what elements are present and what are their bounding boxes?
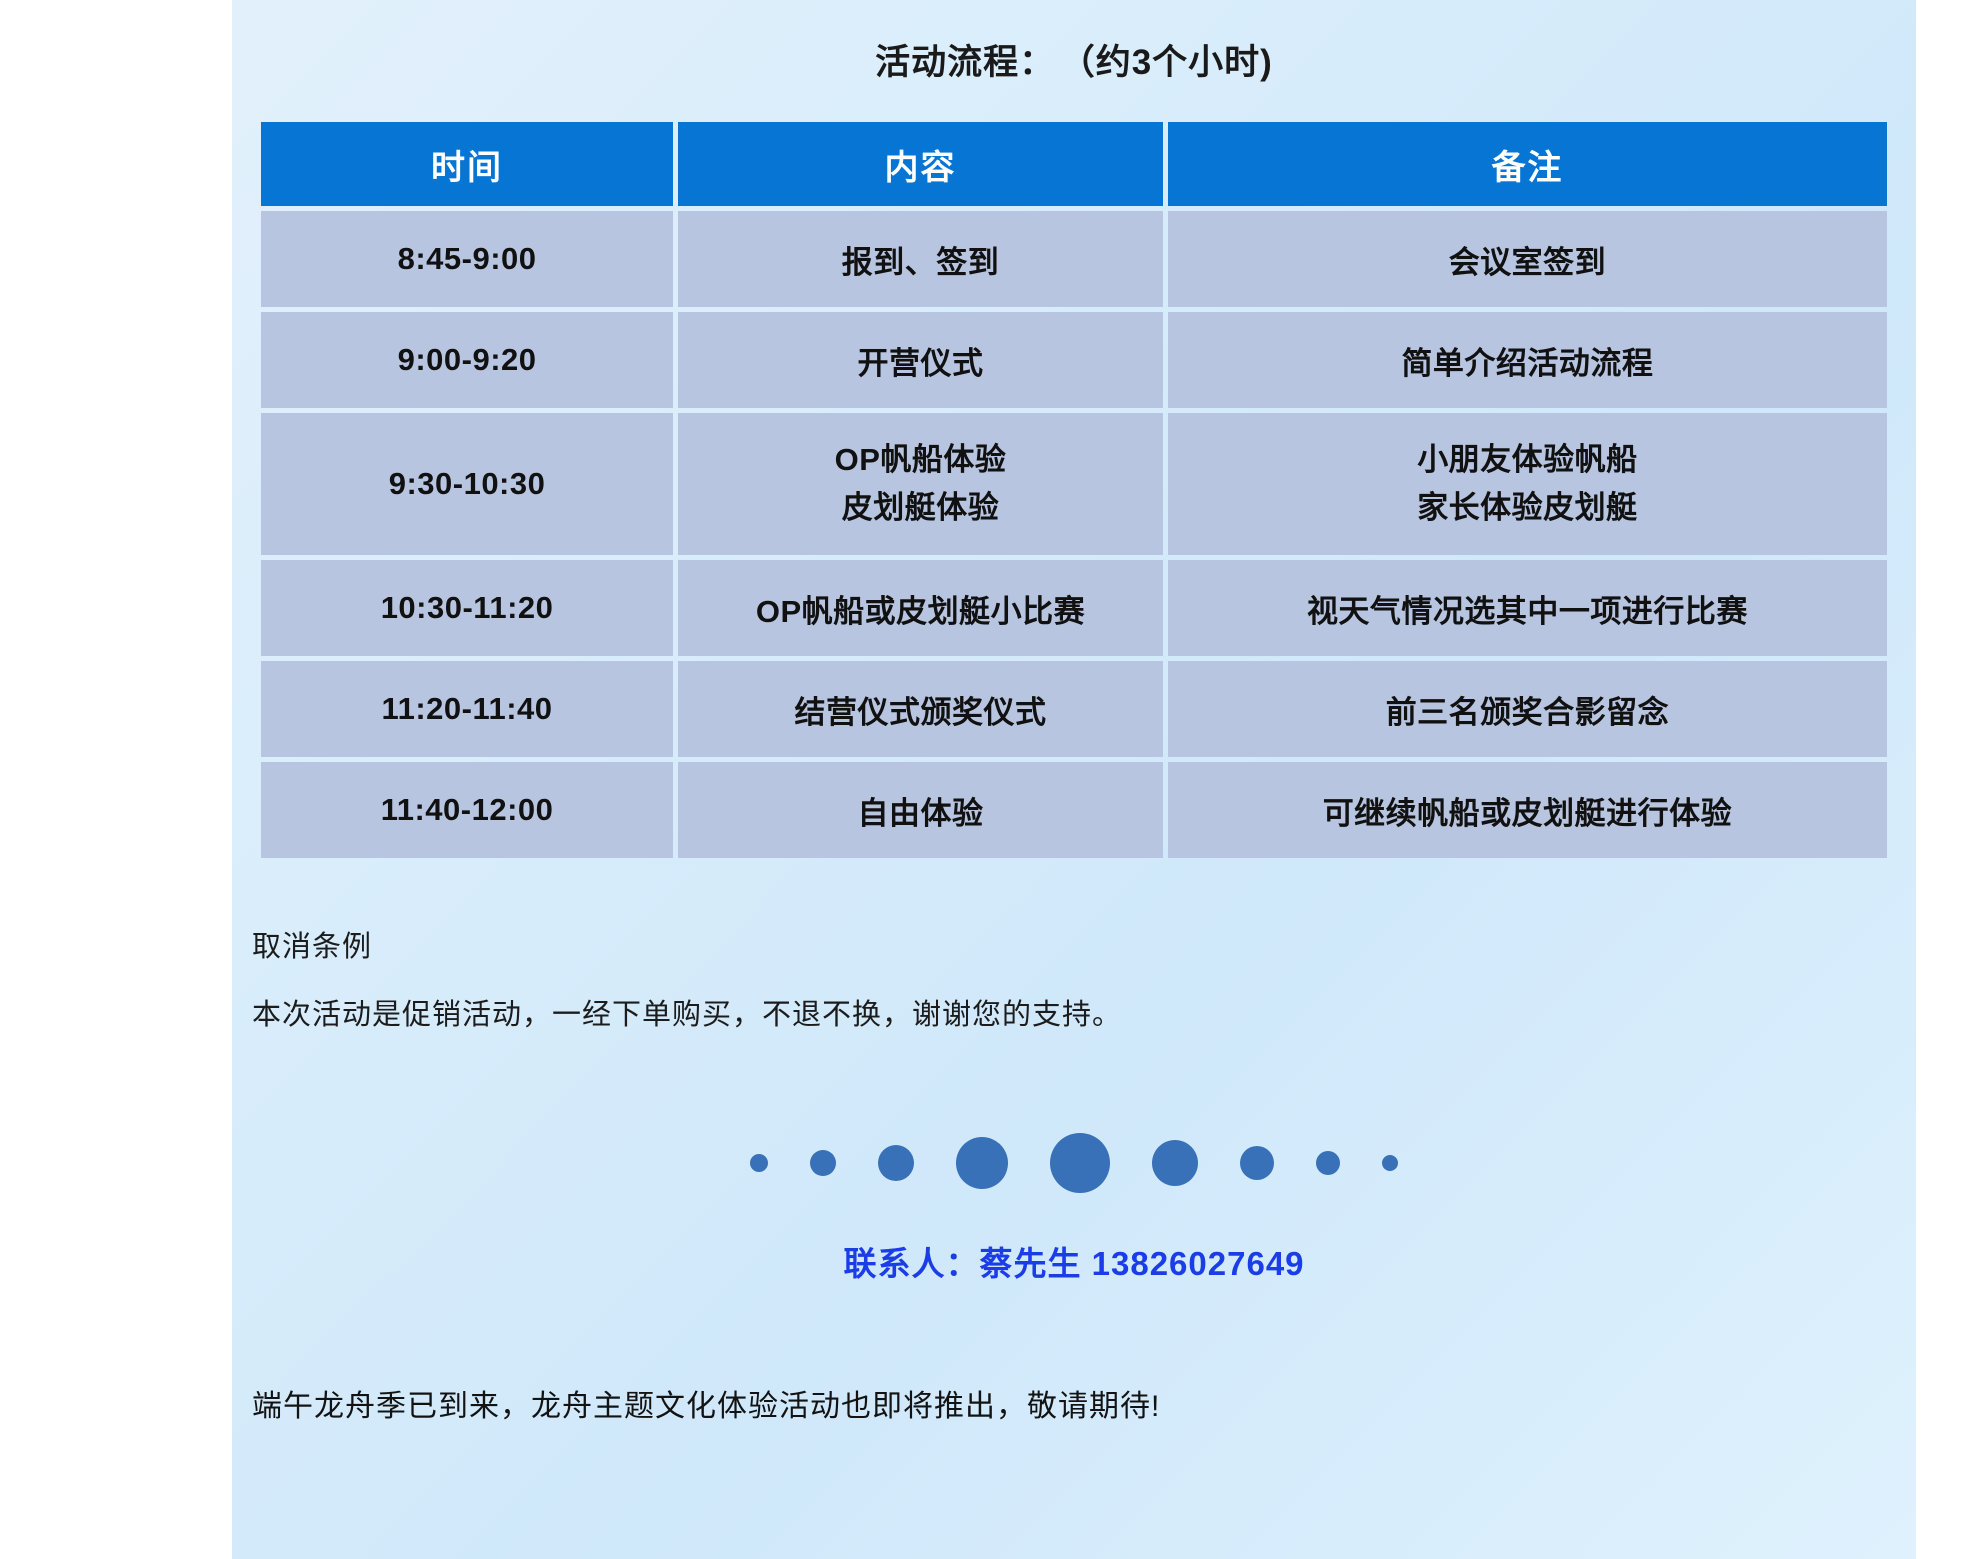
decorative-dot (956, 1137, 1008, 1189)
cell-remark: 前三名颁奖合影留念 (1168, 661, 1887, 757)
cell-time: 8:45-9:00 (261, 211, 673, 307)
footer-note: 端午龙舟季已到来，龙舟主题文化体验活动也即将推出，敬请期待! (252, 1381, 1916, 1425)
cell-content-line2: 皮划艇体验 (682, 484, 1159, 532)
table-row: 10:30-11:20 OP帆船或皮划艇小比赛 视天气情况选其中一项进行比赛 (261, 560, 1887, 656)
cell-time: 11:40-12:00 (261, 762, 673, 858)
cell-time: 11:20-11:40 (261, 661, 673, 757)
cell-content: 自由体验 (678, 762, 1163, 858)
cell-remark: 可继续帆船或皮划艇进行体验 (1168, 762, 1887, 858)
schedule-table-wrap: 时间 内容 备注 8:45-9:00 报到、签到 会议室签到 9:00-9:20… (256, 117, 1892, 863)
cell-remark: 会议室签到 (1168, 211, 1887, 307)
decorative-dot (1240, 1146, 1274, 1180)
column-header-time: 时间 (261, 122, 673, 206)
decorative-dot (1382, 1155, 1398, 1171)
cell-remark: 简单介绍活动流程 (1168, 312, 1887, 408)
cell-content-line1: OP帆船体验 (682, 436, 1159, 484)
cell-remark: 视天气情况选其中一项进行比赛 (1168, 560, 1887, 656)
page-title: 活动流程：（约3个小时) (232, 0, 1916, 85)
cell-content: OP帆船或皮划艇小比赛 (678, 560, 1163, 656)
schedule-title-label: 活动流程： (875, 43, 1055, 82)
table-row: 9:30-10:30 OP帆船体验 皮划艇体验 小朋友体验帆船 家长体验皮划艇 (261, 413, 1887, 555)
table-row: 8:45-9:00 报到、签到 会议室签到 (261, 211, 1887, 307)
policy-title: 取消条例 (252, 923, 1916, 965)
decorative-dot (810, 1150, 836, 1176)
column-header-remark: 备注 (1168, 122, 1887, 206)
schedule-table: 时间 内容 备注 8:45-9:00 报到、签到 会议室签到 9:00-9:20… (256, 117, 1892, 863)
table-row: 11:20-11:40 结营仪式颁奖仪式 前三名颁奖合影留念 (261, 661, 1887, 757)
table-header-row: 时间 内容 备注 (261, 122, 1887, 206)
policy-text: 本次活动是促销活动，一经下单购买，不退不换，谢谢您的支持。 (252, 991, 1916, 1033)
cell-content: 结营仪式颁奖仪式 (678, 661, 1163, 757)
cancellation-policy: 取消条例 本次活动是促销活动，一经下单购买，不退不换，谢谢您的支持。 (252, 923, 1916, 1033)
table-row: 11:40-12:00 自由体验 可继续帆船或皮划艇进行体验 (261, 762, 1887, 858)
promo-page: 活动流程：（约3个小时) 时间 内容 备注 8:45-9:00 报到、签到 会 (232, 0, 1916, 1559)
decorative-dot (1050, 1133, 1110, 1193)
cell-remark-line2: 家长体验皮划艇 (1172, 484, 1883, 532)
schedule-duration-label: （约3个小时) (1077, 43, 1273, 82)
cell-time: 9:00-9:20 (261, 312, 673, 408)
cell-content: OP帆船体验 皮划艇体验 (678, 413, 1163, 555)
cell-time: 9:30-10:30 (261, 413, 673, 555)
decorative-dot (750, 1154, 768, 1172)
cell-content: 报到、签到 (678, 211, 1163, 307)
dot-divider (232, 1123, 1916, 1203)
cell-time: 10:30-11:20 (261, 560, 673, 656)
cell-content: 开营仪式 (678, 312, 1163, 408)
cell-remark-line1: 小朋友体验帆船 (1172, 436, 1883, 484)
table-row: 9:00-9:20 开营仪式 简单介绍活动流程 (261, 312, 1887, 408)
decorative-dot (1152, 1140, 1198, 1186)
contact-line: 联系人：蔡先生 13826027649 (232, 1237, 1916, 1285)
cell-remark: 小朋友体验帆船 家长体验皮划艇 (1168, 413, 1887, 555)
decorative-dot (1316, 1151, 1340, 1175)
column-header-content: 内容 (678, 122, 1163, 206)
decorative-dot (878, 1145, 914, 1181)
